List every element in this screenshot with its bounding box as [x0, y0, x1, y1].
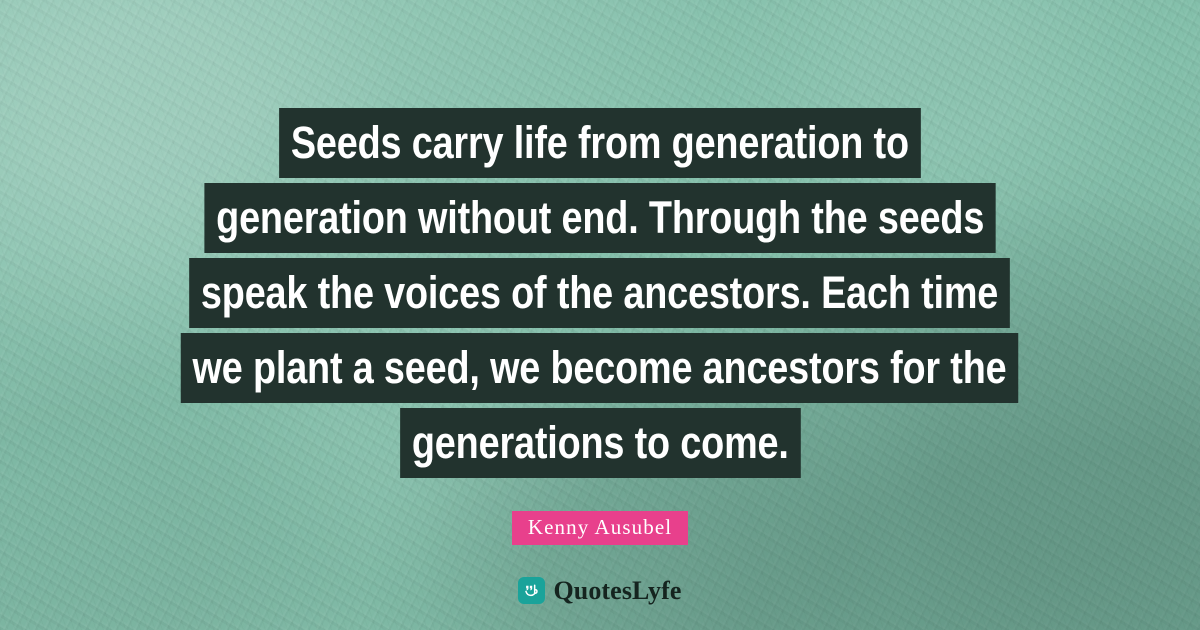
- quote-line: speak the voices of the ancestors. Each …: [190, 258, 1011, 328]
- quotes-smiley-icon: [518, 577, 545, 604]
- quote-line: Seeds carry life from generation to: [279, 108, 921, 178]
- brand-logo: QuotesLyfe: [0, 577, 1200, 604]
- quote-poster: Seeds carry life from generation to gene…: [0, 0, 1200, 630]
- quote-line: generation without end. Through the seed…: [204, 183, 996, 253]
- quote-line: generations to come.: [400, 408, 800, 478]
- author-attribution: Kenny Ausubel: [0, 511, 1200, 545]
- quote-text: Seeds carry life from generation to gene…: [0, 108, 1200, 483]
- brand-name: QuotesLyfe: [553, 578, 681, 604]
- quote-line: we plant a seed, we become ancestors for…: [181, 333, 1019, 403]
- author-name-badge: Kenny Ausubel: [512, 511, 688, 545]
